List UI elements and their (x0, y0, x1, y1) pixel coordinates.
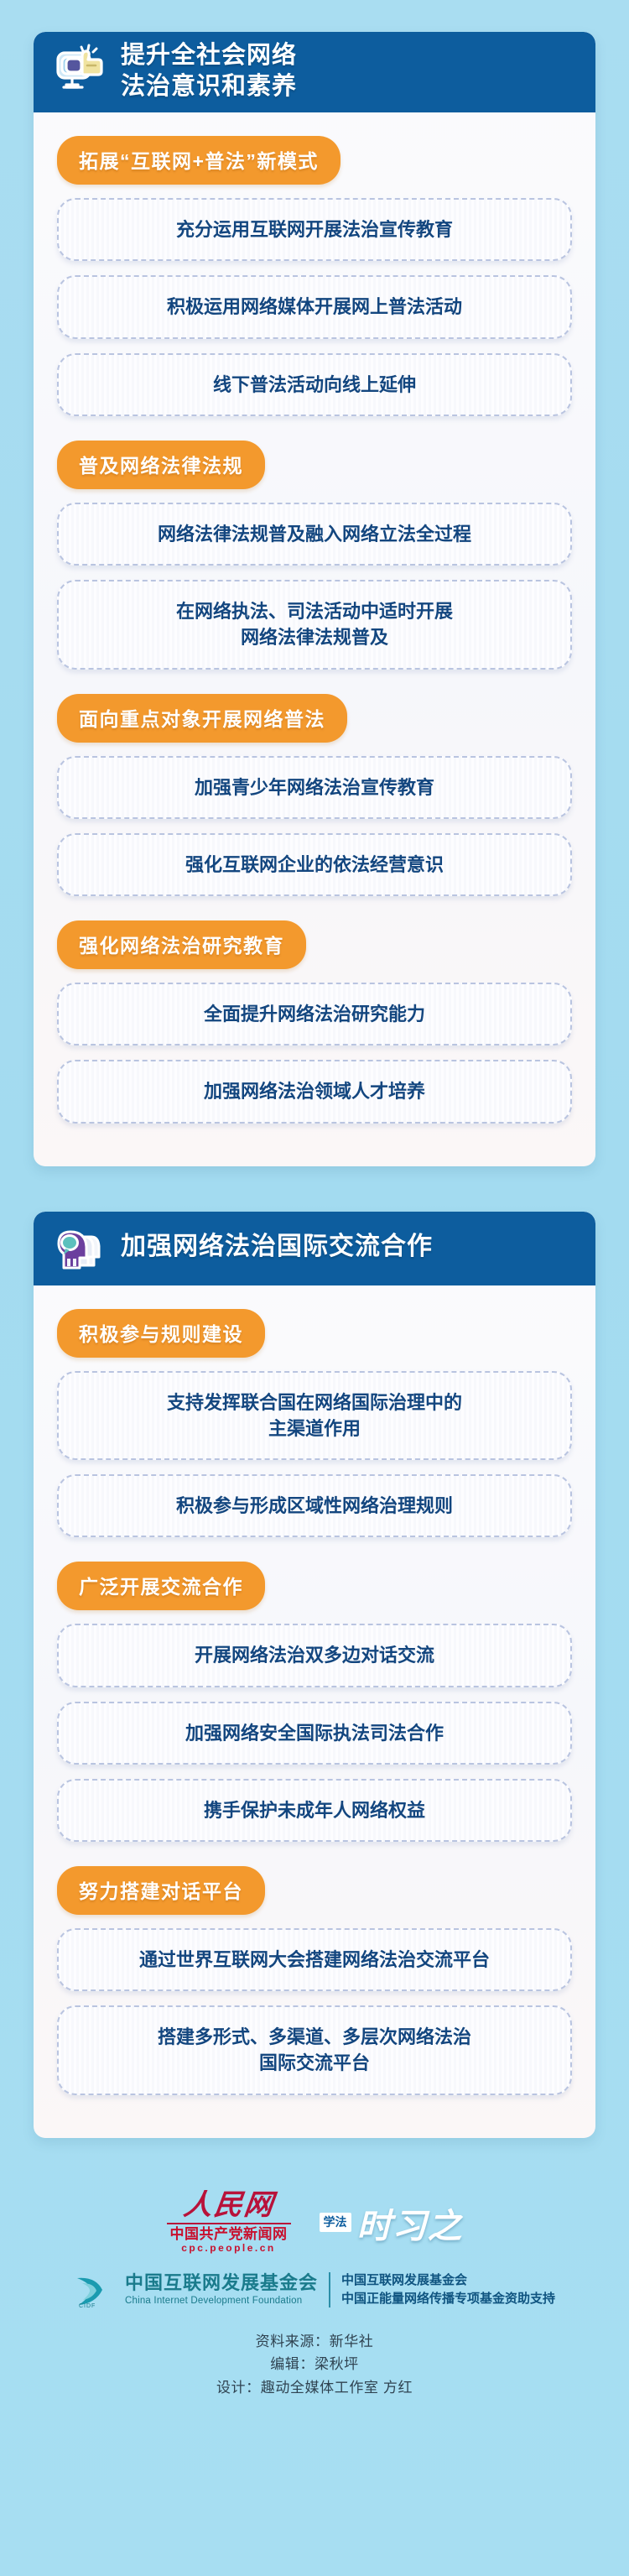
cidf-globe-icon: CIDF (74, 2271, 114, 2308)
shixizhi-badge: 学法 (320, 2213, 351, 2232)
section-pill: 广泛开展交流合作 (57, 1562, 265, 1610)
peoples-daily-logo[interactable]: 人民网 中国共产党新闻网 cpc.people.cn (167, 2192, 291, 2253)
section-pill: 拓展“互联网+普法”新模式 (57, 136, 340, 185)
list-item: 加强青少年网络法治宣传教育 (57, 756, 572, 819)
speaking-heads-icon (52, 1220, 107, 1275)
list-item: 加强网络法治领域人才培养 (57, 1060, 572, 1123)
peoples-daily-wordmark: 人民网 (164, 2192, 292, 2220)
card-title: 加强网络法治国际交流合作 (121, 1231, 433, 1263)
list-item: 在网络执法、司法活动中适时开展网络法律法规普及 (57, 580, 572, 669)
divider (167, 2223, 291, 2224)
section-pill: 普及网络法律法规 (57, 441, 265, 489)
list-item: 加强网络安全国际执法司法合作 (57, 1702, 572, 1765)
cidf-name-block: 中国互联网发展基金会 China Internet Development Fo… (125, 2273, 318, 2307)
credit-editor: 编辑：梁秋坪 (0, 2353, 629, 2376)
footer: 人民网 中国共产党新闻网 cpc.people.cn 学法 时习之 CIDF 中… (0, 2183, 629, 2425)
list-item: 开展网络法治双多边对话交流 (57, 1624, 572, 1687)
section-pill: 强化网络法治研究教育 (57, 920, 306, 969)
shixizhi-logo[interactable]: 学法 时习之 (320, 2198, 463, 2253)
card-title: 提升全社会网络 法治意识和素养 (121, 40, 297, 102)
credits: 资料来源：新华社 编辑：梁秋坪 设计：趣动全媒体工作室 方红 (0, 2330, 629, 2400)
cpc-news-url: cpc.people.cn (167, 2243, 291, 2253)
card-header: 加强网络法治国际交流合作 (34, 1212, 595, 1285)
list-item: 强化互联网企业的依法经营意识 (57, 833, 572, 896)
list-item: 支持发挥联合国在网络国际治理中的主渠道作用 (57, 1371, 572, 1460)
list-item: 携手保护未成年人网络权益 (57, 1779, 572, 1842)
list-item: 线下普法活动向线上延伸 (57, 353, 572, 416)
section-pill: 面向重点对象开展网络普法 (57, 694, 347, 743)
infographic-page: 提升全社会网络 法治意识和素养 拓展“互联网+普法”新模式 充分运用互联网开展法… (0, 0, 629, 2576)
list-item: 充分运用互联网开展法治宣传教育 (57, 198, 572, 261)
cidf-logo-row: CIDF 中国互联网发展基金会 China Internet Developme… (0, 2271, 629, 2308)
svg-text:CIDF: CIDF (79, 2303, 96, 2308)
section-pill: 积极参与规则建设 (57, 1309, 265, 1358)
card-title-line: 法治意识和素养 (121, 71, 297, 102)
card-title-line: 提升全社会网络 (121, 40, 297, 71)
list-item: 通过世界互联网大会搭建网络法治交流平台 (57, 1928, 572, 1991)
card-header: 提升全社会网络 法治意识和素养 (34, 32, 595, 112)
cidf-sponsor-block: 中国互联网发展基金会 中国正能量网络传播专项基金资助支持 (341, 2271, 555, 2308)
credit-source: 资料来源：新华社 (0, 2330, 629, 2354)
list-item: 网络法律法规普及融入网络立法全过程 (57, 503, 572, 566)
card-body: 拓展“互联网+普法”新模式 充分运用互联网开展法治宣传教育 积极运用网络媒体开展… (34, 112, 595, 1123)
cidf-name-cn: 中国互联网发展基金会 (125, 2273, 318, 2294)
divider (329, 2272, 330, 2307)
card-body: 积极参与规则建设 支持发挥联合国在网络国际治理中的主渠道作用 积极参与形成区域性… (34, 1285, 595, 2095)
shixizhi-wordmark: 时习之 (357, 2198, 463, 2248)
list-item: 积极参与形成区域性网络治理规则 (57, 1474, 572, 1537)
list-item: 全面提升网络法治研究能力 (57, 983, 572, 1046)
list-item: 搭建多形式、多渠道、多层次网络法治国际交流平台 (57, 2005, 572, 2094)
credit-designer: 设计：趣动全媒体工作室 方红 (0, 2376, 629, 2400)
card-international-cooperation: 加强网络法治国际交流合作 积极参与规则建设 支持发挥联合国在网络国际治理中的主渠… (34, 1212, 595, 2138)
section-pill: 努力搭建对话平台 (57, 1866, 265, 1915)
publisher-logo-row: 人民网 中国共产党新闻网 cpc.people.cn 学法 时习之 (0, 2192, 629, 2253)
card-network-law-awareness: 提升全社会网络 法治意识和素养 拓展“互联网+普法”新模式 充分运用互联网开展法… (34, 32, 595, 1166)
list-item: 积极运用网络媒体开展网上普法活动 (57, 275, 572, 338)
monitor-thumbs-up-icon (52, 44, 107, 99)
sponsor-line: 中国正能量网络传播专项基金资助支持 (341, 2290, 555, 2308)
cpc-news-label: 中国共产党新闻网 (167, 2227, 291, 2241)
sponsor-line: 中国互联网发展基金会 (341, 2271, 555, 2290)
cidf-name-en: China Internet Development Foundation (125, 2296, 318, 2307)
